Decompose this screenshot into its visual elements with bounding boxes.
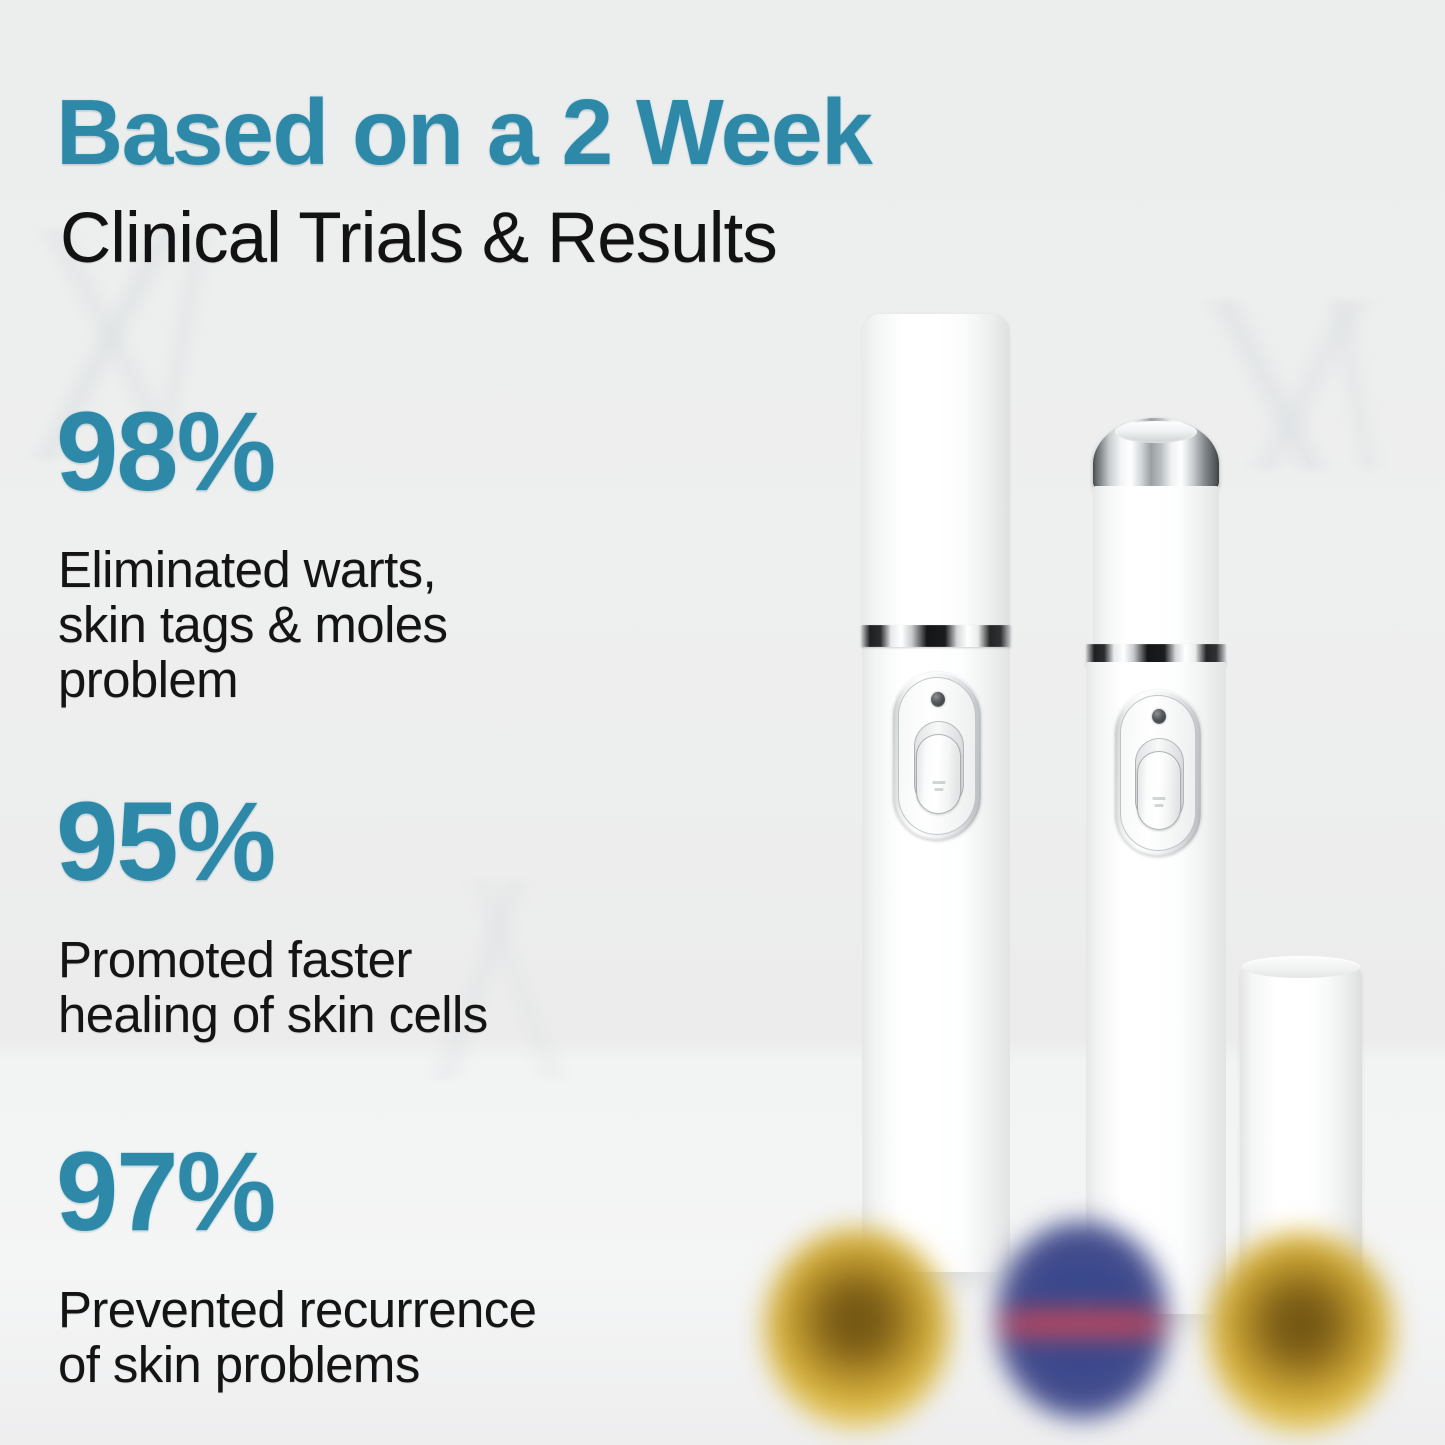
right-knob-marking bbox=[1153, 797, 1166, 800]
infographic-poster: Based on a 2 Week Clinical Trials & Resu… bbox=[0, 0, 1445, 1445]
background-watermark-right bbox=[1120, 300, 1445, 470]
stat-block-1: 98% Eliminated warts, skin tags & moles … bbox=[56, 396, 447, 707]
detached-cap-rim bbox=[1242, 956, 1360, 978]
page-headline: Based on a 2 Week bbox=[56, 86, 871, 179]
stat-2-line-1: Promoted faster bbox=[58, 932, 488, 987]
right-pen-chrome-dome-tip bbox=[1093, 418, 1219, 492]
right-pen-lower-body bbox=[1086, 662, 1226, 1314]
left-pen-white-cap bbox=[862, 314, 1010, 642]
right-knob-marking-2 bbox=[1155, 804, 1164, 807]
stat-1-line-2: skin tags & moles bbox=[58, 597, 447, 652]
right-pen-chrome-ring bbox=[1086, 644, 1226, 666]
left-pen-slider-track bbox=[914, 721, 964, 809]
stat-percent-1: 98% bbox=[56, 396, 447, 508]
stat-block-3: 97% Prevented recurrence of skin problem… bbox=[56, 1136, 536, 1392]
left-panel-inner-bezel bbox=[898, 677, 976, 835]
left-pen-control-panel bbox=[893, 672, 981, 840]
left-knob-marking bbox=[932, 781, 945, 784]
stat-percent-3: 97% bbox=[56, 1136, 536, 1248]
left-pen-power-button bbox=[916, 734, 961, 814]
left-pen-led-indicator bbox=[931, 692, 945, 707]
blue-seal-center bbox=[996, 1222, 1168, 1418]
left-pen-chrome-ring bbox=[861, 625, 1011, 647]
page-subheading: Clinical Trials & Results bbox=[60, 203, 871, 274]
right-pen-slider-track bbox=[1135, 738, 1184, 825]
stat-percent-2: 95% bbox=[56, 786, 488, 898]
right-device-shadow bbox=[1055, 1290, 1285, 1330]
loose-cap-shadow bbox=[1235, 1270, 1405, 1304]
stat-description-2: Promoted faster healing of skin cells bbox=[58, 932, 488, 1042]
right-pen-power-button bbox=[1137, 751, 1181, 830]
right-pen-upper-body bbox=[1093, 486, 1219, 654]
stat-1-line-3: problem bbox=[58, 652, 447, 707]
right-panel-inner-bezel bbox=[1120, 695, 1196, 851]
stat-1-line-1: Eliminated warts, bbox=[58, 542, 447, 597]
right-pen-led-indicator bbox=[1152, 709, 1166, 724]
right-pen-control-panel bbox=[1115, 690, 1201, 856]
stat-3-line-1: Prevented recurrence bbox=[58, 1282, 536, 1337]
stat-description-1: Eliminated warts, skin tags & moles prob… bbox=[58, 542, 447, 707]
right-pen-dome-highlight bbox=[1115, 421, 1197, 443]
detached-protective-cap bbox=[1240, 962, 1362, 1292]
header-block: Based on a 2 Week Clinical Trials & Resu… bbox=[56, 86, 871, 274]
stat-description-3: Prevented recurrence of skin problems bbox=[58, 1282, 536, 1392]
stat-block-2: 95% Promoted faster healing of skin cell… bbox=[56, 786, 488, 1042]
stat-3-line-2: of skin problems bbox=[58, 1337, 536, 1392]
gold-seal-right bbox=[1208, 1232, 1394, 1432]
gold-seal-left bbox=[764, 1228, 950, 1428]
stat-2-line-2: healing of skin cells bbox=[58, 987, 488, 1042]
left-pen-body bbox=[862, 640, 1010, 1272]
left-knob-marking-2 bbox=[934, 788, 943, 791]
left-device-shadow bbox=[830, 1245, 1080, 1289]
